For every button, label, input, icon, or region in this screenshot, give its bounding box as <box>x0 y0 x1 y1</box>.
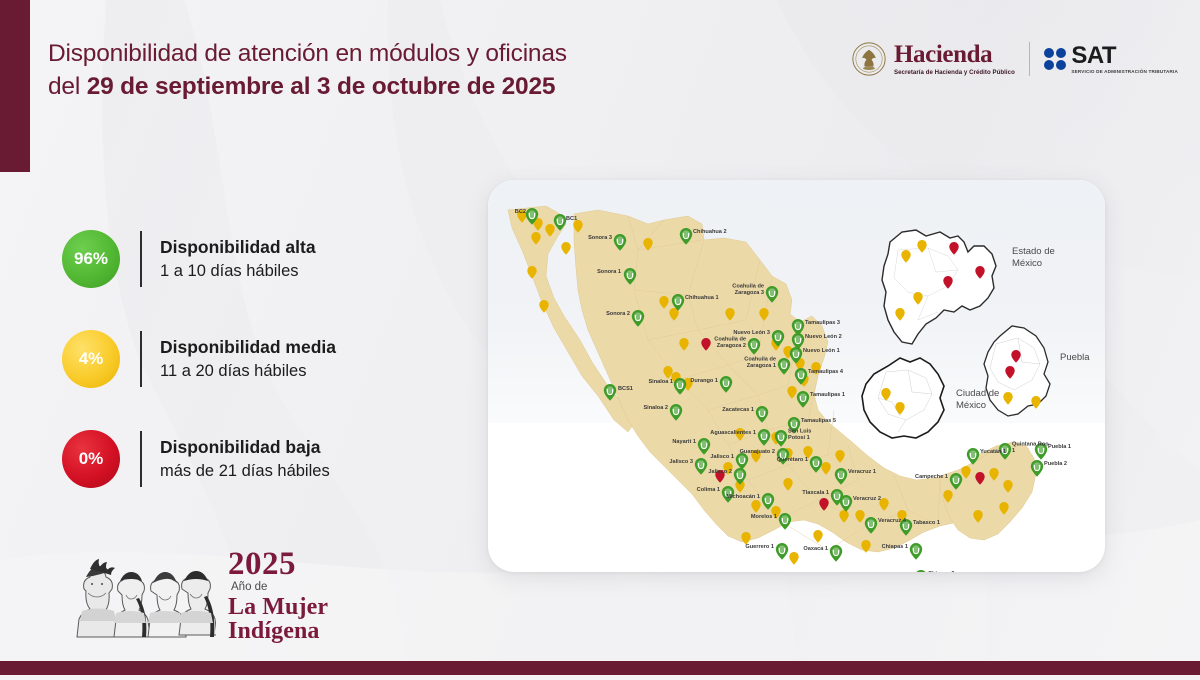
map-state-label: Chihuahua 2 <box>693 229 727 235</box>
left-accent-bar <box>0 0 30 172</box>
percent-badge-alta: 96% <box>62 230 120 288</box>
legend-divider <box>140 331 142 387</box>
map-state-label: BC1 <box>566 216 577 222</box>
hacienda-text: Hacienda Secretaría de Hacienda y Crédit… <box>894 42 1015 76</box>
legend-text-baja: Disponibilidad baja más de 21 días hábil… <box>160 436 330 482</box>
map-state-label: Veracruz 4 <box>878 518 907 524</box>
map-state-label: Veracruz 1 <box>848 469 876 475</box>
map-state-label: San Luis <box>788 429 811 435</box>
year-logo-year: 2025 <box>228 548 328 581</box>
sat-name: SAT <box>1071 44 1178 68</box>
map-state-label: Potosí 1 <box>788 435 810 441</box>
marker-morelos1 <box>779 513 791 530</box>
page-title-daterange: 29 de septiembre al 3 de octubre de 2025 <box>87 73 556 100</box>
inset-label-estado-de-mexico-l2: México <box>1012 258 1042 269</box>
map-state-label: Jalisco 3 <box>669 459 693 465</box>
inset-estado-de-mexico <box>882 230 996 344</box>
map-state-label: Tamaulipas 3 <box>805 320 840 326</box>
map-state-label: Aguascalientes 1 <box>710 430 756 436</box>
mexico-eagle-seal-icon <box>852 42 886 76</box>
map-state-label: Nayarit 1 <box>672 439 696 445</box>
map-state-label: Tabasco 1 <box>913 520 940 526</box>
legend-divider <box>140 431 142 487</box>
mexico-map[interactable]: Estado de México Ciudad de México Puebla <box>488 180 1105 572</box>
map-state-label: Puebla 1 <box>1048 444 1071 450</box>
map-state-label: Morelos 1 <box>751 514 777 520</box>
percent-badge-media: 4% <box>62 330 120 388</box>
year-logo-ano: Año de <box>231 582 328 594</box>
inset-label-ciudad-de-mexico-l1: Ciudad de <box>956 388 999 399</box>
legend-subtitle-alta: 1 a 10 días hábiles <box>160 260 316 282</box>
indigenous-women-illustration-icon <box>66 555 216 647</box>
map-state-label: Sinaloa 2 <box>643 405 668 411</box>
year-of-indigenous-women-logo: 2025 Año de La Mujer Indígena <box>66 548 328 647</box>
legend-subtitle-media: 11 a 20 días hábiles <box>160 360 336 382</box>
legend-divider <box>140 231 142 287</box>
map-state-label: Quintana Roo <box>1012 442 1049 448</box>
map-state-label: 1 <box>1012 448 1015 454</box>
year-logo-text: 2025 Año de La Mujer Indígena <box>228 548 328 647</box>
map-state-label: Zaragoza 1 <box>747 363 776 369</box>
year-logo-line2: La Mujer <box>228 595 328 619</box>
map-state-label: Jalisco 1 <box>710 454 734 460</box>
map-state-label: Chiapas 2 <box>928 571 954 572</box>
inset-label-estado-de-mexico-l1: Estado de <box>1012 246 1055 257</box>
map-state-label: Tamaulipas 5 <box>801 418 836 424</box>
map-state-label: Durango 1 <box>690 378 718 384</box>
map-state-label: Tlaxcala 1 <box>802 490 829 496</box>
sat-four-dots-icon <box>1044 48 1067 71</box>
map-state-label: Chiapas 1 <box>882 544 908 550</box>
map-state-label: Puebla 2 <box>1044 461 1067 467</box>
map-state-label: Chihuahua 1 <box>685 295 719 301</box>
legend-title-alta: Disponibilidad alta <box>160 236 316 259</box>
map-state-label: Campeche 1 <box>915 474 948 480</box>
legend-text-alta: Disponibilidad alta 1 a 10 días hábiles <box>160 236 316 282</box>
mexico-availability-map-card[interactable]: Estado de México Ciudad de México Puebla <box>488 180 1105 572</box>
legend-subtitle-baja: más de 21 días hábiles <box>160 460 330 482</box>
percent-badge-baja: 0% <box>62 430 120 488</box>
map-state-label: Michoacán 1 <box>726 494 760 500</box>
legend-title-media: Disponibilidad media <box>160 336 336 359</box>
yucatan-peninsula <box>940 442 1036 540</box>
hacienda-subtitle: Secretaría de Hacienda y Crédito Público <box>894 70 1015 76</box>
map-state-label: BC2 <box>515 209 526 215</box>
year-logo-line3: Indígena <box>228 619 328 643</box>
map-state-label: Jalisco 2 <box>708 469 732 475</box>
map-state-label: Oaxaca 1 <box>803 546 828 552</box>
availability-legend: 96% Disponibilidad alta 1 a 10 días hábi… <box>62 222 336 496</box>
page-title-line1: Disponibilidad de atención en módulos y … <box>48 38 567 70</box>
marker-oaxaca1 <box>830 545 842 562</box>
map-state-label: Querétaro 1 <box>777 457 808 463</box>
hacienda-name: Hacienda <box>894 42 1015 67</box>
inset-label-puebla: Puebla <box>1060 352 1090 363</box>
legend-item-media: 4% Disponibilidad media 11 a 20 días háb… <box>62 322 336 396</box>
map-state-label: Tamaulipas 1 <box>810 392 845 398</box>
sat-logo: SAT SERVICIO DE ADMINISTRACIÓN TRIBUTARI… <box>1044 44 1178 75</box>
map-state-label: Guerrero 1 <box>745 544 774 550</box>
map-state-label: Zaragoza 2 <box>717 343 746 349</box>
map-state-label: Tamaulipas 4 <box>808 369 844 375</box>
page-header: Disponibilidad de atención en módulos y … <box>48 38 567 103</box>
map-state-label: Zacatecas 1 <box>722 407 754 413</box>
marker-guerrero1 <box>776 543 788 560</box>
marker-chiapas2 <box>915 570 927 572</box>
sat-text: SAT SERVICIO DE ADMINISTRACIÓN TRIBUTARI… <box>1071 44 1178 75</box>
map-state-label: Sonora 1 <box>597 269 621 275</box>
map-state-label: Veracruz 2 <box>853 496 881 502</box>
map-state-label: Coahuila de <box>744 357 776 363</box>
hacienda-logo: Hacienda Secretaría de Hacienda y Crédit… <box>852 42 1015 76</box>
map-state-label: Sonora 3 <box>588 235 612 241</box>
legend-item-alta: 96% Disponibilidad alta 1 a 10 días hábi… <box>62 222 336 296</box>
page-title-line2: del 29 de septiembre al 3 de octubre de … <box>48 70 567 103</box>
map-state-label: Sonora 2 <box>606 311 630 317</box>
map-state-label: Nuevo León 2 <box>805 334 842 340</box>
map-state-label: Colima 1 <box>697 487 720 493</box>
marker-chiapas1 <box>910 543 922 560</box>
sat-subtitle: SERVICIO DE ADMINISTRACIÓN TRIBUTARIA <box>1071 70 1178 75</box>
page-title-prefix: del <box>48 73 87 100</box>
map-state-label: BCS1 <box>618 386 633 392</box>
inset-label-ciudad-de-mexico-l2: México <box>956 400 986 411</box>
logo-divider <box>1029 42 1030 76</box>
bottom-accent-bar <box>0 661 1200 675</box>
legend-title-baja: Disponibilidad baja <box>160 436 330 459</box>
map-state-label: Coahuila de <box>732 284 764 290</box>
legend-item-baja: 0% Disponibilidad baja más de 21 días há… <box>62 422 336 496</box>
logo-group: Hacienda Secretaría de Hacienda y Crédit… <box>852 36 1178 82</box>
legend-text-media: Disponibilidad media 11 a 20 días hábile… <box>160 336 336 382</box>
map-state-label: Zaragoza 3 <box>735 290 764 296</box>
map-state-label: Yucatán 1 <box>980 449 1006 455</box>
map-state-label: Nuevo León 3 <box>733 330 770 336</box>
map-state-label: Sinaloa 1 <box>648 379 673 385</box>
inset-ciudad-de-mexico <box>862 358 944 438</box>
map-state-label: Coahuila de <box>714 337 746 343</box>
map-state-label: Nuevo León 1 <box>803 348 840 354</box>
map-state-label: Guanajuato 2 <box>740 449 775 455</box>
